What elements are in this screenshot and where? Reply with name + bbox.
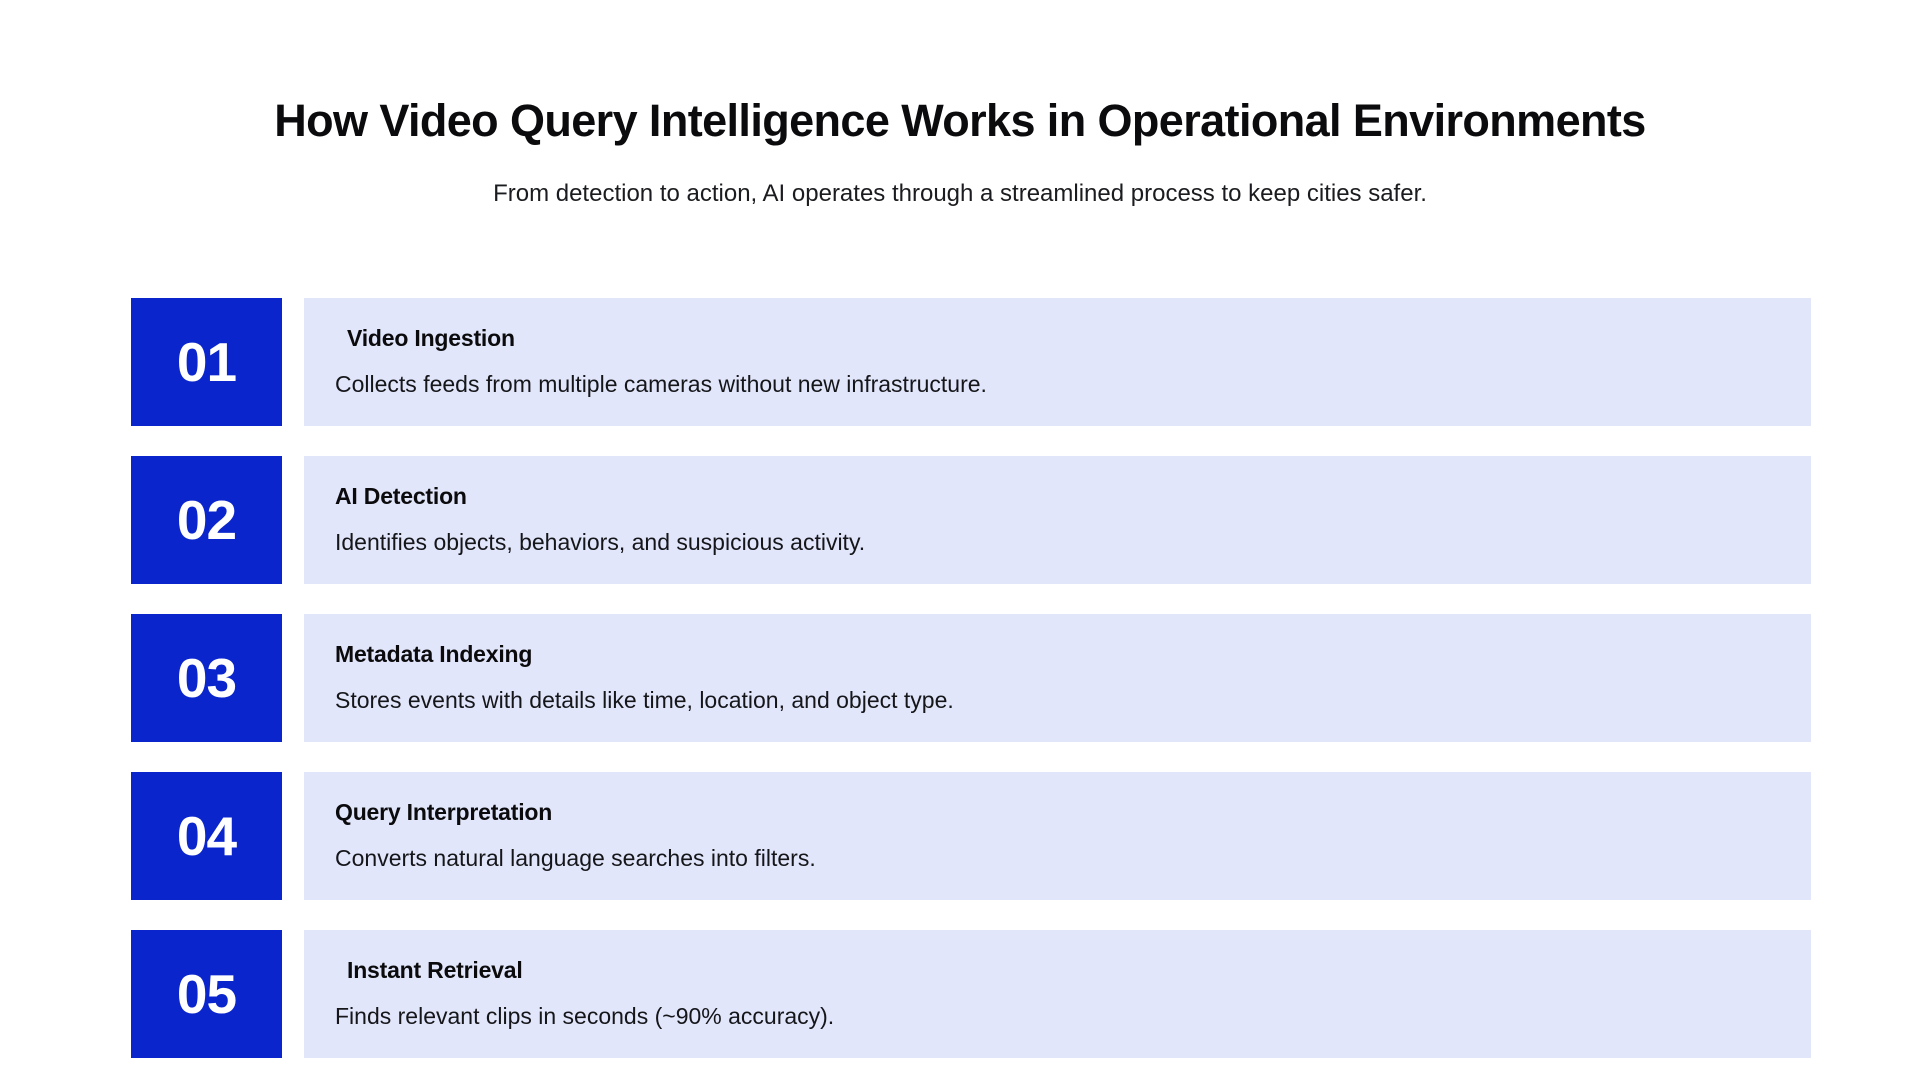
steps-list: 01 Video Ingestion Collects feeds from m… [131, 298, 1811, 1058]
step-description: Finds relevant clips in seconds (~90% ac… [335, 1002, 1777, 1031]
step-description: Converts natural language searches into … [335, 844, 1777, 873]
step-content: AI Detection Identifies objects, behavio… [304, 456, 1811, 584]
step-number-badge: 04 [131, 772, 282, 900]
step-row: 04 Query Interpretation Converts natural… [131, 772, 1811, 900]
step-row: 02 AI Detection Identifies objects, beha… [131, 456, 1811, 584]
step-number-label: 03 [177, 651, 236, 706]
step-number-label: 02 [177, 493, 236, 548]
step-row: 01 Video Ingestion Collects feeds from m… [131, 298, 1811, 426]
step-row: 03 Metadata Indexing Stores events with … [131, 614, 1811, 742]
step-content: Query Interpretation Converts natural la… [304, 772, 1811, 900]
step-content: Video Ingestion Collects feeds from mult… [304, 298, 1811, 426]
page-title: How Video Query Intelligence Works in Op… [0, 96, 1920, 146]
step-number-badge: 03 [131, 614, 282, 742]
page-subtitle: From detection to action, AI operates th… [0, 178, 1920, 210]
step-number-badge: 02 [131, 456, 282, 584]
step-description: Identifies objects, behaviors, and suspi… [335, 528, 1777, 557]
header: How Video Query Intelligence Works in Op… [0, 0, 1920, 211]
step-title: AI Detection [335, 483, 1777, 511]
step-description: Stores events with details like time, lo… [335, 686, 1777, 715]
step-number-label: 04 [177, 809, 236, 864]
step-row: 05 Instant Retrieval Finds relevant clip… [131, 930, 1811, 1058]
step-title: Instant Retrieval [335, 957, 1777, 985]
step-number-badge: 01 [131, 298, 282, 426]
step-title: Video Ingestion [335, 325, 1777, 353]
infographic-page: How Video Query Intelligence Works in Op… [0, 0, 1920, 1080]
step-description: Collects feeds from multiple cameras wit… [335, 370, 1777, 399]
step-title: Query Interpretation [335, 799, 1777, 827]
step-title: Metadata Indexing [335, 641, 1777, 669]
step-content: Instant Retrieval Finds relevant clips i… [304, 930, 1811, 1058]
step-number-badge: 05 [131, 930, 282, 1058]
step-number-label: 01 [177, 335, 236, 390]
step-content: Metadata Indexing Stores events with det… [304, 614, 1811, 742]
step-number-label: 05 [177, 967, 236, 1022]
